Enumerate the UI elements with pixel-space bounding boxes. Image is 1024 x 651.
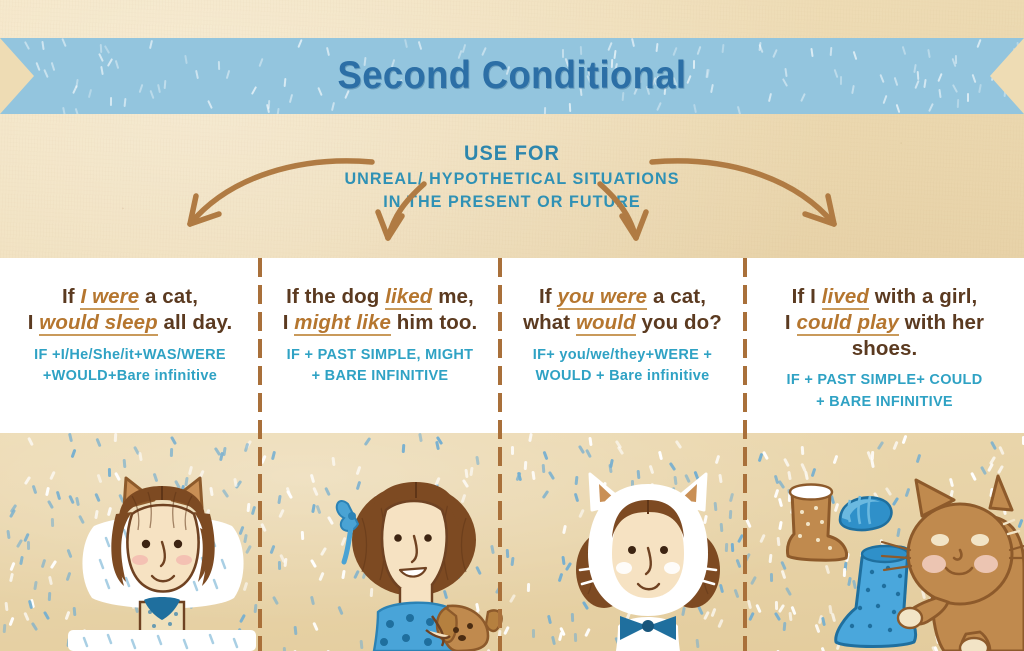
eye-left (142, 540, 150, 548)
confetti-dash (310, 559, 317, 568)
confetti-dash (277, 495, 281, 504)
confetti-dash (589, 437, 593, 446)
c2-l1-post: me, (432, 285, 473, 308)
c3-l1-highlight: you were (558, 285, 648, 310)
confetti-dash (49, 471, 56, 480)
confetti-dash (56, 491, 61, 500)
confetti-dash (8, 617, 14, 626)
confetti-dash (23, 611, 29, 620)
confetti-dash (27, 541, 30, 550)
confetti-dash (301, 531, 304, 540)
confetti-dash (715, 454, 720, 463)
confetti-dash (675, 440, 683, 449)
column-4: If I lived with a girl, I could play wit… (745, 258, 1024, 432)
confetti-dash (893, 441, 899, 450)
confetti-dash (585, 449, 592, 458)
column-4-sentence: If I lived with a girl, I could play wit… (753, 284, 1016, 361)
cat-ear-right-icon (990, 476, 1012, 510)
c3-l2-highlight: would (576, 311, 636, 336)
confetti-dash (51, 518, 54, 527)
confetti-dash (801, 446, 805, 455)
confetti-dash (401, 444, 405, 453)
confetti-dash (464, 469, 468, 478)
confetti-dash (528, 432, 533, 441)
illustration-girl-in-cat-hood (558, 468, 738, 651)
banner-tick (24, 41, 30, 50)
column-2-formula: IF + PAST SIMPLE, MIGHT + BARE INFINITIV… (268, 345, 492, 387)
confetti-dash (3, 624, 7, 633)
cat-paw-pad (898, 608, 922, 628)
cheek-right (176, 555, 192, 565)
c2-formula-line-2: + BARE INFINITIVE (268, 366, 492, 387)
confetti-dash (750, 576, 757, 585)
confetti-dash (532, 471, 536, 480)
confetti-dash (532, 629, 535, 638)
confetti-dash (48, 576, 53, 585)
cheek-left (616, 562, 632, 574)
c1-formula-line-1: IF +I/He/She/it+WAS/WERE (8, 345, 252, 366)
column-divider-1 (258, 258, 262, 651)
confetti-dash (312, 622, 318, 631)
confetti-dash (293, 626, 297, 635)
column-1-sentence: If I were a cat, I would sleep all day. (8, 284, 252, 336)
illustration-cat-with-boots-and-slipper (768, 458, 1024, 651)
confetti-dash (47, 500, 54, 509)
c3-formula-line-2: WOULD + Bare infinitive (508, 366, 737, 387)
cat-cheek-left (922, 555, 946, 573)
cheek-right (664, 562, 680, 574)
c4-l1-post: with a girl, (869, 285, 977, 308)
use-for-line-1: UNREAL/ HYPOTHETICAL SITUATIONS (26, 168, 999, 191)
confetti-dash (31, 622, 38, 631)
confetti-dash (901, 435, 907, 444)
confetti-dash (615, 440, 622, 449)
eye-left (931, 534, 949, 546)
c2-formula-line-1: IF + PAST SIMPLE, MIGHT (268, 345, 492, 366)
c1-l2-highlight: would sleep (39, 311, 157, 336)
c4-formula-line-1: IF + PAST SIMPLE+ COULD (753, 370, 1016, 391)
eye-right (174, 540, 182, 548)
confetti-dash (511, 446, 514, 455)
confetti-dash (312, 487, 318, 496)
confetti-dash (278, 561, 281, 570)
eye-left (394, 534, 402, 542)
cat-cheek-right (974, 555, 998, 573)
eye-right (971, 534, 989, 546)
confetti-dash (578, 445, 585, 454)
column-1: If I were a cat, I would sleep all day. … (0, 258, 260, 432)
confetti-dash (95, 437, 101, 446)
fur-boot-icon (787, 485, 846, 561)
c2-l2-highlight: might like (294, 311, 391, 336)
c2-l1-pre: If the dog (286, 285, 385, 308)
confetti-dash (309, 474, 314, 483)
confetti-dash (551, 636, 556, 645)
cat-hind-paw (960, 638, 988, 651)
eye-left (628, 546, 636, 554)
c1-l1-pre: If (62, 285, 81, 308)
confetti-dash (4, 602, 8, 611)
confetti-dash (509, 594, 516, 603)
confetti-dash (45, 486, 50, 495)
explanation-panel: If I were a cat, I would sleep all day. … (0, 258, 1024, 432)
c4-l2-pre: I (785, 311, 797, 334)
confetti-dash (470, 467, 474, 476)
confetti-dash (33, 581, 37, 590)
confetti-dash (49, 560, 56, 569)
confetti-dash (23, 476, 30, 485)
confetti-dash (524, 461, 528, 470)
column-divider-2 (498, 258, 502, 651)
confetti-dash (9, 562, 15, 571)
confetti-dash (542, 450, 548, 459)
confetti-dash (41, 559, 47, 568)
confetti-dash (998, 446, 1004, 455)
c2-l2-pre: I (283, 311, 295, 334)
confetti-dash (877, 441, 884, 450)
confetti-dash (243, 443, 248, 452)
confetti-dash (356, 465, 362, 474)
column-2: If the dog liked me, I might like him to… (260, 258, 500, 432)
c4-l1-highlight: lived (822, 285, 869, 310)
confetti-dash (114, 433, 118, 442)
confetti-dash (658, 451, 663, 460)
confetti-dash (272, 596, 279, 605)
confetti-dash (310, 596, 315, 605)
face (382, 501, 447, 593)
confetti-dash (757, 453, 763, 462)
confetti-dash (68, 433, 73, 442)
c4-l1-pre: If I (792, 285, 822, 308)
confetti-dash (283, 647, 286, 651)
confetti-dash (271, 451, 276, 460)
use-for-block: USE FOR UNREAL/ HYPOTHETICAL SITUATIONS … (26, 140, 999, 213)
illustration-strip (0, 432, 1024, 651)
c3-l1-pre: If (539, 285, 558, 308)
confetti-dash (6, 530, 10, 539)
confetti-dash (9, 573, 14, 582)
confetti-dash (43, 611, 50, 620)
c3-l2-post: you do? (636, 311, 722, 334)
title-banner: Second Conditional (0, 38, 1024, 114)
illustration-girl-holding-dog (322, 478, 507, 651)
cheek-left (132, 555, 148, 565)
confetti-dash (541, 490, 549, 499)
confetti-dash (542, 464, 546, 473)
confetti-dash (331, 457, 335, 466)
use-for-heading: USE FOR (26, 140, 999, 168)
column-3: If you were a cat, what would you do? IF… (500, 258, 745, 432)
confetti-dash (747, 599, 752, 608)
polka-dot-boot-icon (836, 546, 916, 647)
confetti-dash (279, 509, 286, 518)
infographic-poster: Second Conditional USE FOR UNREAL/ HYPOT… (0, 0, 1024, 651)
confetti-dash (475, 456, 479, 465)
column-3-sentence: If you were a cat, what would you do? (508, 284, 737, 336)
confetti-dash (759, 534, 766, 543)
panel-bottom-edge (0, 428, 1024, 433)
c3-l1-post: a cat, (647, 285, 706, 308)
slipper-icon (840, 496, 891, 530)
c2-l1-highlight: liked (385, 285, 432, 310)
confetti-dash (418, 433, 423, 442)
column-1-formula: IF +I/He/She/it+WAS/WERE +WOULD+Bare inf… (8, 345, 252, 387)
column-2-sentence: If the dog liked me, I might like him to… (268, 284, 492, 336)
confetti-dash (526, 583, 529, 592)
c3-formula-line-1: IF+ you/we/they+WERE + (508, 345, 737, 366)
c4-l2-highlight: could play (797, 311, 899, 336)
c1-l1-post: a cat, (139, 285, 198, 308)
confetti-dash (311, 504, 316, 513)
c1-l1-highlight: I were (80, 285, 139, 310)
c3-l2-pre: what (523, 311, 576, 334)
illustration-girl-in-bed-with-cat-ears (62, 452, 262, 651)
c4-formula-line-2: + BARE INFINITIVE (753, 392, 1016, 413)
confetti-dash (364, 437, 372, 446)
confetti-dash (756, 604, 762, 613)
page-title: Second Conditional (36, 38, 988, 114)
confetti-dash (511, 557, 515, 566)
dog-icon (437, 606, 502, 651)
eye-right (424, 534, 432, 542)
confetti-dash (31, 485, 37, 494)
cat-head (908, 504, 1012, 604)
confetti-dash (990, 440, 997, 449)
column-3-formula: IF+ you/we/they+WERE + WOULD + Bare infi… (508, 345, 737, 387)
confetti-dash (748, 612, 755, 621)
confetti-dash (27, 437, 34, 446)
confetti-dash (286, 489, 293, 498)
eye-right (660, 546, 668, 554)
column-divider-3 (743, 258, 747, 651)
c1-formula-line-2: +WOULD+Bare infinitive (8, 366, 252, 387)
confetti-dash (547, 615, 552, 624)
confetti-dash (16, 539, 23, 548)
confetti-dash (283, 558, 287, 567)
confetti-dash (547, 471, 554, 480)
confetti-dash (48, 592, 52, 601)
confetti-dash (315, 505, 321, 514)
confetti-dash (269, 545, 275, 554)
c1-l2-pre: I (28, 311, 40, 334)
blanket (68, 630, 256, 651)
confetti-dash (170, 436, 177, 445)
column-4-formula: IF + PAST SIMPLE+ COULD + BARE INFINITIV… (753, 370, 1016, 412)
use-for-line-2: IN THE PRESENT OR FUTURE (26, 191, 999, 214)
confetti-dash (19, 555, 24, 564)
c1-l2-post: all day. (158, 311, 233, 334)
c2-l2-post: him too. (391, 311, 477, 334)
